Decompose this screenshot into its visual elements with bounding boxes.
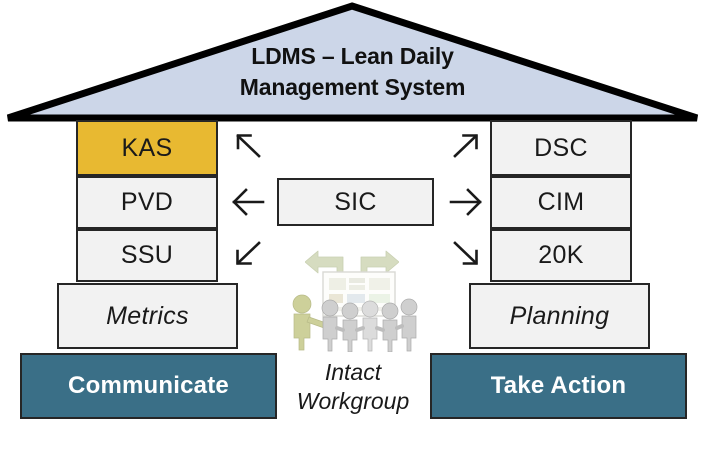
left-pillar-item-ssu-label: SSU (121, 241, 173, 270)
left-pillar-item-pvd[interactable]: PVD (76, 176, 218, 229)
intact-workgroup-caption-line-2: Workgroup (282, 387, 424, 416)
left-pillar-item-ssu[interactable]: SSU (76, 229, 218, 282)
left-tier-metrics[interactable]: Metrics (57, 283, 238, 349)
right-pillar-item-20k[interactable]: 20K (490, 229, 632, 282)
right-pillar-item-cim[interactable]: CIM (490, 176, 632, 229)
arrow-right-icon (449, 185, 483, 219)
right-base-take-action-label: Take Action (491, 372, 627, 400)
left-pillar-item-pvd-label: PVD (121, 188, 173, 217)
ldms-house-diagram: LDMS – Lean Daily Management System KAS … (0, 0, 705, 454)
left-pillar-item-kas-label: KAS (122, 134, 173, 163)
right-base-take-action[interactable]: Take Action (430, 353, 687, 419)
right-tier-planning[interactable]: Planning (469, 283, 650, 349)
center-sic-label: SIC (334, 188, 377, 217)
left-base-communicate-label: Communicate (68, 372, 229, 400)
right-pillar-item-20k-label: 20K (538, 241, 583, 270)
intact-workgroup-caption: Intact Workgroup (282, 358, 424, 417)
center-sic-box[interactable]: SIC (277, 178, 434, 226)
arrow-down-right-icon (449, 236, 483, 270)
roof-title-line-2: Management System (150, 72, 555, 103)
arrow-up-right-icon (449, 129, 483, 163)
right-pillar-item-dsc[interactable]: DSC (490, 120, 632, 176)
intact-workgroup-illustration (283, 268, 423, 352)
left-pillar-item-kas[interactable]: KAS (76, 120, 218, 176)
right-tier-planning-label: Planning (510, 302, 610, 331)
roof-title-line-1: LDMS – Lean Daily (150, 41, 555, 72)
intact-workgroup-caption-line-1: Intact (282, 358, 424, 387)
arrow-down-left-icon (231, 236, 265, 270)
arrow-left-icon (231, 185, 265, 219)
right-pillar-item-cim-label: CIM (538, 188, 585, 217)
right-pillar-item-dsc-label: DSC (534, 134, 588, 163)
left-base-communicate[interactable]: Communicate (20, 353, 277, 419)
page-title: LDMS – Lean Daily Management System (150, 41, 555, 102)
arrow-up-left-icon (231, 129, 265, 163)
left-tier-metrics-label: Metrics (106, 302, 189, 331)
